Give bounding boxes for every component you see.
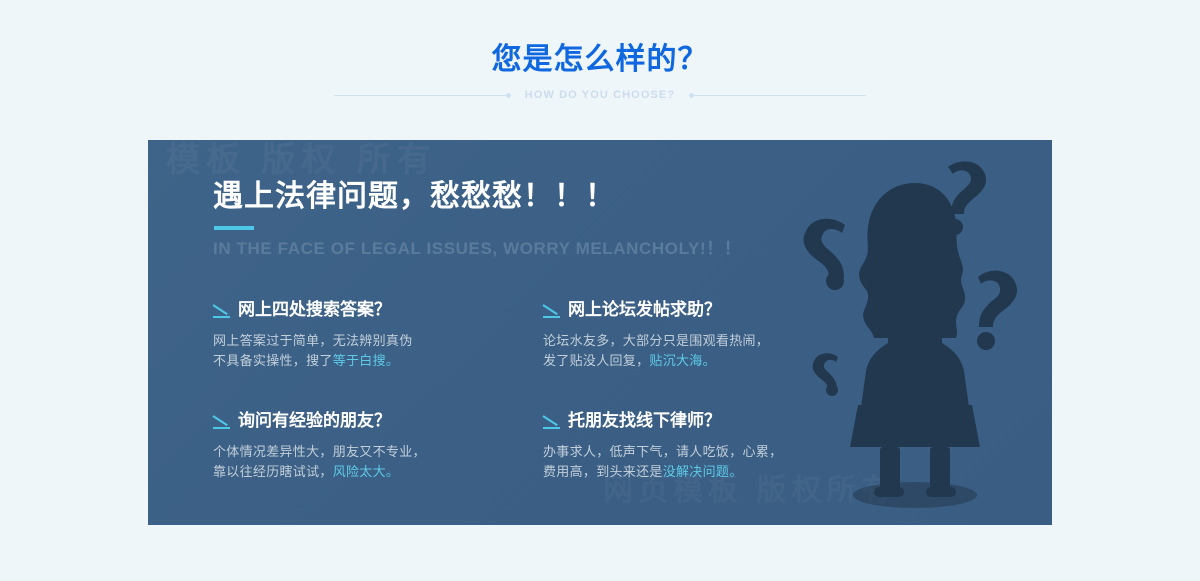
panel-subheading: IN THE FACE OF LEGAL ISSUES, WORRY MELAN…	[213, 238, 1052, 260]
list-item: 询问有经验的朋友？ 个体情况差异性大，朋友又不专业， 靠以往经历瞎试试，风险太大…	[213, 410, 543, 482]
item-body-line2-prefix: 发了贴没人回复，	[543, 353, 649, 368]
item-body: 网上答案过于简单，无法辨别真伪 不具备实操性，搜了等于白搜。	[213, 331, 543, 371]
item-body-line2-prefix: 不具备实操性，搜了	[213, 353, 333, 368]
content-panel: 模板 版权 所有 网页模板 版权所有	[148, 140, 1052, 525]
list-item: 托朋友找线下律师？ 办事求人，低声下气，请人吃饭，心累， 费用高，到头来还是没解…	[543, 410, 873, 482]
item-body-highlight: 没解决问题。	[663, 464, 743, 479]
problem-list: 网上四处搜索答案？ 网上答案过于简单，无法辨别真伪 不具备实操性，搜了等于白搜。…	[213, 299, 903, 482]
item-body-line2-prefix: 靠以往经历瞎试试，	[213, 464, 333, 479]
page-title: 您是怎么样的？	[0, 42, 1200, 78]
arrow-underline-icon	[213, 303, 230, 318]
item-title-row: 网上论坛发帖求助？	[543, 299, 873, 321]
item-title-row: 托朋友找线下律师？	[543, 410, 873, 432]
item-body-highlight: 等于白搜。	[333, 353, 400, 368]
heading-accent-bar	[214, 226, 254, 230]
list-item: 网上论坛发帖求助？ 论坛水友多，大部分只是围观看热闹， 发了贴没人回复，贴沉大海…	[543, 299, 873, 371]
decorative-line-right	[691, 95, 866, 96]
item-title-row: 网上四处搜索答案？	[213, 299, 543, 321]
item-title-text: 网上四处搜索答案？	[238, 299, 391, 321]
arrow-underline-icon	[543, 414, 560, 429]
arrow-underline-icon	[543, 303, 560, 318]
decorative-dot-left	[506, 93, 511, 98]
item-title-text: 托朋友找线下律师？	[568, 410, 721, 432]
item-body-line2-prefix: 费用高，到头来还是	[543, 464, 663, 479]
item-body-line1: 个体情况差异性大，朋友又不专业，	[213, 444, 426, 459]
page-subtitle: HOW DO YOU CHOOSE?	[515, 89, 685, 101]
item-body-highlight: 风险太大。	[333, 464, 400, 479]
panel-heading: 遇上法律问题，愁愁愁！！！	[213, 178, 1052, 216]
item-title-text: 询问有经验的朋友？	[238, 410, 391, 432]
arrow-underline-icon	[213, 414, 230, 429]
decorative-line-left	[334, 95, 509, 96]
item-body: 个体情况差异性大，朋友又不专业， 靠以往经历瞎试试，风险太大。	[213, 442, 543, 482]
subtitle-row: HOW DO YOU CHOOSE?	[0, 89, 1200, 101]
decorative-dot-right	[689, 93, 694, 98]
item-body-line1: 办事求人，低声下气，请人吃饭，心累，	[543, 444, 782, 459]
item-body: 论坛水友多，大部分只是围观看热闹， 发了贴没人回复，贴沉大海。	[543, 331, 873, 371]
item-body-line1: 论坛水友多，大部分只是围观看热闹，	[543, 333, 769, 348]
item-title-text: 网上论坛发帖求助？	[568, 299, 721, 321]
list-item: 网上四处搜索答案？ 网上答案过于简单，无法辨别真伪 不具备实操性，搜了等于白搜。	[213, 299, 543, 371]
item-body-highlight: 贴沉大海。	[649, 353, 716, 368]
item-body: 办事求人，低声下气，请人吃饭，心累， 费用高，到头来还是没解决问题。	[543, 442, 873, 482]
item-title-row: 询问有经验的朋友？	[213, 410, 543, 432]
section-header: 您是怎么样的？ HOW DO YOU CHOOSE?	[0, 42, 1200, 101]
item-body-line1: 网上答案过于简单，无法辨别真伪	[213, 333, 413, 348]
